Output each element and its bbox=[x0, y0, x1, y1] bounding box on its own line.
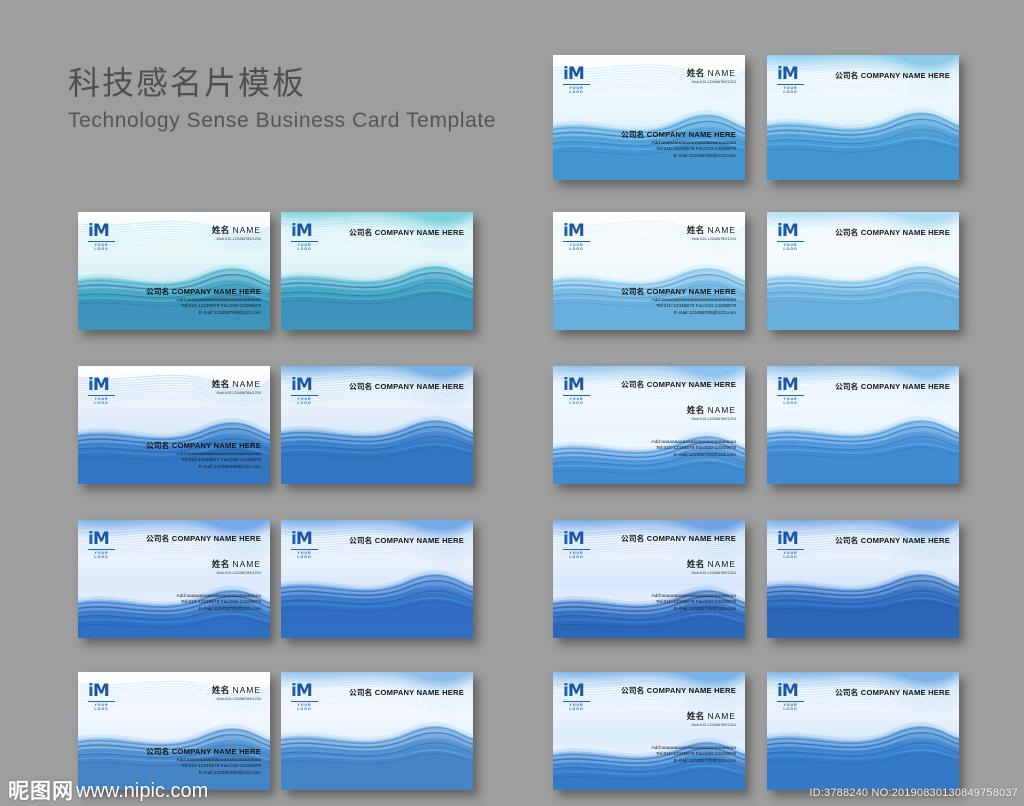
watermark-chinese-label: 昵图网 bbox=[8, 780, 74, 802]
logo-subtitle: YOUR LOGO bbox=[777, 84, 804, 94]
card-email-line: E-mail:123456789@123.com bbox=[651, 759, 736, 765]
business-card-r3c2[interactable]: iM YOUR LOGO 公司名 COMPANY NAME HERE bbox=[281, 366, 473, 484]
logo-mark: iM bbox=[563, 377, 590, 394]
logo-mark: iM bbox=[563, 531, 590, 548]
card-company-line: 公司名 COMPANY NAME HERE bbox=[349, 535, 464, 546]
card-company-block: 公司名 COMPANY NAME HERE bbox=[621, 533, 736, 544]
card-name-line: 姓名 NAME bbox=[687, 67, 736, 79]
card-email-line: E-mail:123456789@123.com bbox=[651, 607, 736, 613]
card-company-line: 公司名 COMPANY NAME HERE bbox=[835, 687, 950, 698]
card-name-english: NAME bbox=[707, 68, 736, 78]
company-logo: iM YOUR LOGO bbox=[88, 223, 115, 251]
card-artwork: iM YOUR LOGO 公司名 COMPANY NAME HERE 姓名 NA… bbox=[553, 672, 745, 790]
company-logo: iM YOUR LOGO bbox=[563, 683, 590, 711]
logo-mark: iM bbox=[777, 683, 804, 700]
logo-mark: iM bbox=[291, 377, 318, 394]
business-card-r1c3[interactable]: iM YOUR LOGO 姓名 NAME Mob:010-123456789/1… bbox=[553, 55, 745, 180]
card-company-line: 公司名 COMPANY NAME HERE bbox=[146, 746, 261, 757]
company-logo: iM YOUR LOGO bbox=[777, 683, 804, 711]
logo-mark: iM bbox=[88, 531, 115, 548]
card-name-line: 姓名 NAME bbox=[212, 558, 261, 570]
logo-subtitle: YOUR LOGO bbox=[777, 549, 804, 559]
page-title-chinese: 科技感名片模板 bbox=[68, 62, 496, 104]
logo-letter-m: M bbox=[296, 221, 312, 241]
card-artwork: iM YOUR LOGO 公司名 COMPANY NAME HERE 姓名 NA… bbox=[553, 366, 745, 484]
card-company-line: 公司名 COMPANY NAME HERE bbox=[621, 129, 736, 140]
card-company-block: 公司名 COMPANY NAME HERE bbox=[621, 286, 736, 297]
card-company-block: 公司名 COMPANY NAME HERE bbox=[621, 129, 736, 140]
business-card-r2c4[interactable]: iM YOUR LOGO 公司名 COMPANY NAME HERE bbox=[767, 212, 959, 330]
card-company-chinese: 公司名 bbox=[835, 228, 858, 237]
card-company-english: COMPANY NAME HERE bbox=[647, 534, 736, 543]
card-company-english: COMPANY NAME HERE bbox=[647, 380, 736, 389]
card-artwork: iM YOUR LOGO 公司名 COMPANY NAME HERE bbox=[767, 55, 959, 180]
card-mobile-line: Mob:010-123456789/1234 bbox=[687, 723, 736, 727]
logo-subtitle: YOUR LOGO bbox=[291, 241, 318, 251]
logo-letter-m: M bbox=[782, 375, 798, 395]
card-email-line: E-mail:123456789@123.com bbox=[176, 771, 261, 777]
business-card-r3c4[interactable]: iM YOUR LOGO 公司名 COMPANY NAME HERE bbox=[767, 366, 959, 484]
logo-subtitle: YOUR LOGO bbox=[777, 701, 804, 711]
business-card-r1c4[interactable]: iM YOUR LOGO 公司名 COMPANY NAME HERE bbox=[767, 55, 959, 180]
card-company-english: COMPANY NAME HERE bbox=[861, 382, 950, 391]
card-company-block: 公司名 COMPANY NAME HERE bbox=[146, 440, 261, 451]
logo-mark: iM bbox=[563, 223, 590, 240]
card-contact-block: Add:aaaaaaaaaaaaaaaaaaaaaaaaaaaa Tel:010… bbox=[651, 440, 736, 459]
card-company-line: 公司名 COMPANY NAME HERE bbox=[621, 286, 736, 297]
card-mobile-line: Mob:010-123456789/1234 bbox=[212, 571, 261, 575]
card-contact-block: Add:aaaaaaaaaaaaaaaaaaaaaaaaaaaa Tel:010… bbox=[176, 594, 261, 613]
logo-subtitle: YOUR LOGO bbox=[291, 701, 318, 711]
card-company-chinese: 公司名 bbox=[621, 130, 644, 139]
logo-subtitle: YOUR LOGO bbox=[88, 241, 115, 251]
card-company-english: COMPANY NAME HERE bbox=[861, 71, 950, 80]
logo-mark: iM bbox=[88, 377, 115, 394]
asset-id-label: ID:3788240 NO:20190830130849758037 bbox=[809, 787, 1018, 799]
card-company-english: COMPANY NAME HERE bbox=[861, 688, 950, 697]
card-email-line: E-mail:123456789@123.com bbox=[176, 607, 261, 613]
card-name-block: 姓名 NAME Mob:010-123456789/1234 bbox=[212, 224, 261, 241]
card-contact-block: Add:aaaaaaaaaaaaaaaaaaaaaaaaaaaa Tel:010… bbox=[651, 141, 736, 160]
logo-subtitle: YOUR LOGO bbox=[291, 549, 318, 559]
logo-subtitle: YOUR LOGO bbox=[563, 549, 590, 559]
card-contact-block: Add:aaaaaaaaaaaaaaaaaaaaaaaaaaaa Tel:010… bbox=[651, 298, 736, 317]
company-logo: iM YOUR LOGO bbox=[291, 223, 318, 251]
logo-mark: iM bbox=[563, 66, 590, 83]
business-card-r4c4[interactable]: iM YOUR LOGO 公司名 COMPANY NAME HERE bbox=[767, 520, 959, 638]
card-name-chinese: 姓名 bbox=[687, 406, 705, 416]
logo-letter-m: M bbox=[568, 64, 584, 84]
company-logo: iM YOUR LOGO bbox=[88, 377, 115, 405]
business-card-r4c2[interactable]: iM YOUR LOGO 公司名 COMPANY NAME HERE bbox=[281, 520, 473, 638]
card-telfax-line: Tel:010-12345678 Fax:010-12345678 bbox=[176, 458, 261, 464]
card-mobile-line: Mob:010-123456789/1234 bbox=[687, 417, 736, 421]
logo-mark: iM bbox=[88, 223, 115, 240]
card-name-chinese: 姓名 bbox=[212, 560, 230, 570]
company-logo: iM YOUR LOGO bbox=[563, 377, 590, 405]
card-company-block: 公司名 COMPANY NAME HERE bbox=[835, 687, 950, 698]
logo-letter-m: M bbox=[296, 375, 312, 395]
card-name-block: 姓名 NAME Mob:010-123456789/1234 bbox=[687, 558, 736, 575]
logo-subtitle: YOUR LOGO bbox=[563, 84, 590, 94]
logo-letter-m: M bbox=[568, 375, 584, 395]
card-company-line: 公司名 COMPANY NAME HERE bbox=[146, 440, 261, 451]
card-name-english: NAME bbox=[707, 225, 736, 235]
card-company-block: 公司名 COMPANY NAME HERE bbox=[146, 533, 261, 544]
card-company-chinese: 公司名 bbox=[621, 534, 644, 543]
card-name-chinese: 姓名 bbox=[687, 226, 705, 236]
card-company-line: 公司名 COMPANY NAME HERE bbox=[835, 227, 950, 238]
card-name-block: 姓名 NAME Mob:010-123456789/1234 bbox=[212, 378, 261, 395]
card-company-chinese: 公司名 bbox=[349, 382, 372, 391]
business-card-r4c3[interactable]: iM YOUR LOGO 公司名 COMPANY NAME HERE 姓名 NA… bbox=[553, 520, 745, 638]
card-company-block: 公司名 COMPANY NAME HERE bbox=[349, 687, 464, 698]
business-card-r2c2[interactable]: iM YOUR LOGO 公司名 COMPANY NAME HERE bbox=[281, 212, 473, 330]
card-company-chinese: 公司名 bbox=[349, 688, 372, 697]
card-name-block: 姓名 NAME Mob:010-123456789/1234 bbox=[212, 558, 261, 575]
logo-letter-m: M bbox=[568, 529, 584, 549]
card-name-block: 姓名 NAME Mob:010-123456789/1234 bbox=[212, 684, 261, 701]
card-telfax-line: Tel:010-12345678 Fax:010-12345678 bbox=[176, 600, 261, 606]
company-logo: iM YOUR LOGO bbox=[563, 223, 590, 251]
company-logo: iM YOUR LOGO bbox=[291, 377, 318, 405]
card-artwork: iM YOUR LOGO 公司名 COMPANY NAME HERE 姓名 NA… bbox=[553, 520, 745, 638]
company-logo: iM YOUR LOGO bbox=[777, 377, 804, 405]
card-company-block: 公司名 COMPANY NAME HERE bbox=[835, 70, 950, 81]
card-company-chinese: 公司名 bbox=[621, 686, 644, 695]
card-email-line: E-mail:123456789@123.com bbox=[651, 311, 736, 317]
card-company-chinese: 公司名 bbox=[146, 534, 169, 543]
card-company-english: COMPANY NAME HERE bbox=[861, 228, 950, 237]
card-company-chinese: 公司名 bbox=[835, 536, 858, 545]
card-company-line: 公司名 COMPANY NAME HERE bbox=[349, 227, 464, 238]
business-card-r5c1[interactable]: iM YOUR LOGO 姓名 NAME Mob:010-123456789/1… bbox=[78, 672, 270, 790]
card-artwork: iM YOUR LOGO 公司名 COMPANY NAME HERE bbox=[767, 212, 959, 330]
logo-letter-m: M bbox=[782, 529, 798, 549]
business-card-r3c3[interactable]: iM YOUR LOGO 公司名 COMPANY NAME HERE 姓名 NA… bbox=[553, 366, 745, 484]
card-company-english: COMPANY NAME HERE bbox=[375, 688, 464, 697]
card-email-line: E-mail:123456789@123.com bbox=[176, 465, 261, 471]
logo-subtitle: YOUR LOGO bbox=[563, 241, 590, 251]
card-company-english: COMPANY NAME HERE bbox=[172, 534, 261, 543]
card-company-english: COMPANY NAME HERE bbox=[375, 382, 464, 391]
card-company-english: COMPANY NAME HERE bbox=[647, 130, 736, 139]
business-card-r5c4[interactable]: iM YOUR LOGO 公司名 COMPANY NAME HERE bbox=[767, 672, 959, 790]
card-artwork: iM YOUR LOGO 公司名 COMPANY NAME HERE bbox=[767, 672, 959, 790]
card-name-chinese: 姓名 bbox=[212, 380, 230, 390]
logo-mark: iM bbox=[777, 531, 804, 548]
card-company-english: COMPANY NAME HERE bbox=[375, 536, 464, 545]
business-card-r3c1[interactable]: iM YOUR LOGO 姓名 NAME Mob:010-123456789/1… bbox=[78, 366, 270, 484]
card-mobile-line: Mob:010-123456789/1234 bbox=[212, 697, 261, 701]
card-artwork: iM YOUR LOGO 姓名 NAME Mob:010-123456789/1… bbox=[78, 672, 270, 790]
card-artwork: iM YOUR LOGO 姓名 NAME Mob:010-123456789/1… bbox=[78, 212, 270, 330]
logo-mark: iM bbox=[88, 683, 115, 700]
card-name-line: 姓名 NAME bbox=[212, 378, 261, 390]
card-artwork: iM YOUR LOGO 公司名 COMPANY NAME HERE bbox=[767, 366, 959, 484]
card-company-line: 公司名 COMPANY NAME HERE bbox=[835, 535, 950, 546]
business-card-r5c2[interactable]: iM YOUR LOGO 公司名 COMPANY NAME HERE bbox=[281, 672, 473, 790]
card-email-line: E-mail:123456789@123.com bbox=[651, 453, 736, 459]
card-name-english: NAME bbox=[707, 559, 736, 569]
card-telfax-line: Tel:010-12345678 Fax:010-12345678 bbox=[651, 600, 736, 606]
card-company-english: COMPANY NAME HERE bbox=[375, 228, 464, 237]
card-company-block: 公司名 COMPANY NAME HERE bbox=[146, 746, 261, 757]
logo-subtitle: YOUR LOGO bbox=[563, 701, 590, 711]
card-company-chinese: 公司名 bbox=[146, 287, 169, 296]
card-company-chinese: 公司名 bbox=[621, 380, 644, 389]
card-mobile-line: Mob:010-123456789/1234 bbox=[687, 571, 736, 575]
logo-letter-m: M bbox=[93, 221, 109, 241]
card-name-english: NAME bbox=[707, 711, 736, 721]
card-company-chinese: 公司名 bbox=[349, 228, 372, 237]
logo-subtitle: YOUR LOGO bbox=[563, 395, 590, 405]
card-company-block: 公司名 COMPANY NAME HERE bbox=[349, 535, 464, 546]
card-contact-block: Add:aaaaaaaaaaaaaaaaaaaaaaaaaaaa Tel:010… bbox=[176, 298, 261, 317]
business-card-r2c1[interactable]: iM YOUR LOGO 姓名 NAME Mob:010-123456789/1… bbox=[78, 212, 270, 330]
card-artwork: iM YOUR LOGO 公司名 COMPANY NAME HERE bbox=[767, 520, 959, 638]
site-watermark: 昵图网 www.nipic.com bbox=[8, 780, 208, 802]
card-company-line: 公司名 COMPANY NAME HERE bbox=[835, 70, 950, 81]
card-company-chinese: 公司名 bbox=[146, 747, 169, 756]
card-company-chinese: 公司名 bbox=[835, 688, 858, 697]
card-company-line: 公司名 COMPANY NAME HERE bbox=[146, 286, 261, 297]
logo-mark: iM bbox=[777, 377, 804, 394]
card-artwork: iM YOUR LOGO 公司名 COMPANY NAME HERE 姓名 NA… bbox=[78, 520, 270, 638]
card-mobile-line: Mob:010-123456789/1234 bbox=[212, 237, 261, 241]
card-company-block: 公司名 COMPANY NAME HERE bbox=[835, 535, 950, 546]
card-telfax-line: Tel:010-12345678 Fax:010-12345678 bbox=[651, 304, 736, 310]
business-card-r4c1[interactable]: iM YOUR LOGO 公司名 COMPANY NAME HERE 姓名 NA… bbox=[78, 520, 270, 638]
card-name-block: 姓名 NAME Mob:010-123456789/1234 bbox=[687, 224, 736, 241]
logo-subtitle: YOUR LOGO bbox=[291, 395, 318, 405]
logo-mark: iM bbox=[777, 66, 804, 83]
page-title-block: 科技感名片模板 Technology Sense Business Card T… bbox=[68, 62, 496, 136]
card-company-english: COMPANY NAME HERE bbox=[861, 536, 950, 545]
card-contact-block: Add:aaaaaaaaaaaaaaaaaaaaaaaaaaaa Tel:010… bbox=[651, 746, 736, 765]
company-logo: iM YOUR LOGO bbox=[88, 683, 115, 711]
card-company-block: 公司名 COMPANY NAME HERE bbox=[835, 381, 950, 392]
logo-subtitle: YOUR LOGO bbox=[777, 395, 804, 405]
card-company-line: 公司名 COMPANY NAME HERE bbox=[621, 533, 736, 544]
card-mobile-line: Mob:010-123456789/1234 bbox=[687, 237, 736, 241]
company-logo: iM YOUR LOGO bbox=[777, 66, 804, 94]
card-company-block: 公司名 COMPANY NAME HERE bbox=[349, 227, 464, 238]
card-name-line: 姓名 NAME bbox=[687, 404, 736, 416]
card-name-chinese: 姓名 bbox=[687, 69, 705, 79]
card-artwork: iM YOUR LOGO 公司名 COMPANY NAME HERE bbox=[281, 672, 473, 790]
card-contact-block: Add:aaaaaaaaaaaaaaaaaaaaaaaaaaaa Tel:010… bbox=[651, 594, 736, 613]
card-artwork: iM YOUR LOGO 姓名 NAME Mob:010-123456789/1… bbox=[553, 55, 745, 180]
company-logo: iM YOUR LOGO bbox=[563, 531, 590, 559]
card-name-chinese: 姓名 bbox=[212, 226, 230, 236]
logo-mark: iM bbox=[291, 223, 318, 240]
card-name-english: NAME bbox=[232, 225, 261, 235]
card-name-line: 姓名 NAME bbox=[212, 224, 261, 236]
business-card-r5c3[interactable]: iM YOUR LOGO 公司名 COMPANY NAME HERE 姓名 NA… bbox=[553, 672, 745, 790]
company-logo: iM YOUR LOGO bbox=[563, 66, 590, 94]
company-logo: iM YOUR LOGO bbox=[291, 683, 318, 711]
card-company-line: 公司名 COMPANY NAME HERE bbox=[835, 381, 950, 392]
card-company-line: 公司名 COMPANY NAME HERE bbox=[146, 533, 261, 544]
card-company-chinese: 公司名 bbox=[835, 71, 858, 80]
card-name-line: 姓名 NAME bbox=[212, 684, 261, 696]
logo-mark: iM bbox=[777, 223, 804, 240]
card-email-line: E-mail:123456789@123.com bbox=[651, 154, 736, 160]
card-mobile-line: Mob:010-123456789/1234 bbox=[212, 391, 261, 395]
card-name-block: 姓名 NAME Mob:010-123456789/1234 bbox=[687, 67, 736, 84]
company-logo: iM YOUR LOGO bbox=[777, 531, 804, 559]
card-company-line: 公司名 COMPANY NAME HERE bbox=[349, 687, 464, 698]
logo-letter-m: M bbox=[782, 64, 798, 84]
business-card-r2c3[interactable]: iM YOUR LOGO 姓名 NAME Mob:010-123456789/1… bbox=[553, 212, 745, 330]
logo-letter-m: M bbox=[93, 529, 109, 549]
page-title-english: Technology Sense Business Card Template bbox=[68, 106, 496, 136]
card-company-english: COMPANY NAME HERE bbox=[172, 287, 261, 296]
card-name-english: NAME bbox=[232, 379, 261, 389]
card-artwork: iM YOUR LOGO 公司名 COMPANY NAME HERE bbox=[281, 366, 473, 484]
card-contact-block: Add:aaaaaaaaaaaaaaaaaaaaaaaaaaaa Tel:010… bbox=[176, 758, 261, 777]
card-name-line: 姓名 NAME bbox=[687, 558, 736, 570]
logo-letter-m: M bbox=[568, 681, 584, 701]
logo-letter-m: M bbox=[296, 529, 312, 549]
card-name-block: 姓名 NAME Mob:010-123456789/1234 bbox=[687, 710, 736, 727]
card-artwork: iM YOUR LOGO 公司名 COMPANY NAME HERE bbox=[281, 212, 473, 330]
company-logo: iM YOUR LOGO bbox=[291, 531, 318, 559]
card-company-english: COMPANY NAME HERE bbox=[172, 747, 261, 756]
watermark-url-label: www.nipic.com bbox=[76, 780, 208, 802]
card-company-block: 公司名 COMPANY NAME HERE bbox=[349, 381, 464, 392]
card-artwork: iM YOUR LOGO 公司名 COMPANY NAME HERE bbox=[281, 520, 473, 638]
card-contact-block: Add:aaaaaaaaaaaaaaaaaaaaaaaaaaaa Tel:010… bbox=[176, 452, 261, 471]
card-company-english: COMPANY NAME HERE bbox=[172, 441, 261, 450]
card-artwork: iM YOUR LOGO 姓名 NAME Mob:010-123456789/1… bbox=[553, 212, 745, 330]
card-telfax-line: Tel:010-12345678 Fax:010-12345678 bbox=[651, 752, 736, 758]
card-name-line: 姓名 NAME bbox=[687, 710, 736, 722]
card-company-block: 公司名 COMPANY NAME HERE bbox=[835, 227, 950, 238]
logo-letter-m: M bbox=[93, 681, 109, 701]
logo-subtitle: YOUR LOGO bbox=[88, 549, 115, 559]
card-company-english: COMPANY NAME HERE bbox=[647, 287, 736, 296]
card-company-line: 公司名 COMPANY NAME HERE bbox=[621, 379, 736, 390]
card-name-english: NAME bbox=[707, 405, 736, 415]
card-company-chinese: 公司名 bbox=[349, 536, 372, 545]
logo-letter-m: M bbox=[296, 681, 312, 701]
card-company-english: COMPANY NAME HERE bbox=[647, 686, 736, 695]
card-company-block: 公司名 COMPANY NAME HERE bbox=[146, 286, 261, 297]
card-company-chinese: 公司名 bbox=[835, 382, 858, 391]
card-name-block: 姓名 NAME Mob:010-123456789/1234 bbox=[687, 404, 736, 421]
card-name-line: 姓名 NAME bbox=[687, 224, 736, 236]
logo-letter-m: M bbox=[782, 221, 798, 241]
card-name-chinese: 姓名 bbox=[212, 686, 230, 696]
logo-mark: iM bbox=[291, 683, 318, 700]
logo-letter-m: M bbox=[568, 221, 584, 241]
card-telfax-line: Tel:010-12345678 Fax:010-12345678 bbox=[176, 304, 261, 310]
company-logo: iM YOUR LOGO bbox=[777, 223, 804, 251]
logo-subtitle: YOUR LOGO bbox=[88, 701, 115, 711]
card-telfax-line: Tel:010-12345678 Fax:010-12345678 bbox=[176, 764, 261, 770]
logo-subtitle: YOUR LOGO bbox=[777, 241, 804, 251]
card-name-english: NAME bbox=[232, 559, 261, 569]
card-artwork: iM YOUR LOGO 姓名 NAME Mob:010-123456789/1… bbox=[78, 366, 270, 484]
card-company-chinese: 公司名 bbox=[146, 441, 169, 450]
card-mobile-line: Mob:010-123456789/1234 bbox=[687, 80, 736, 84]
logo-letter-m: M bbox=[93, 375, 109, 395]
card-name-english: NAME bbox=[232, 685, 261, 695]
logo-letter-m: M bbox=[782, 681, 798, 701]
card-company-block: 公司名 COMPANY NAME HERE bbox=[621, 685, 736, 696]
logo-mark: iM bbox=[563, 683, 590, 700]
logo-subtitle: YOUR LOGO bbox=[88, 395, 115, 405]
card-company-line: 公司名 COMPANY NAME HERE bbox=[349, 381, 464, 392]
logo-mark: iM bbox=[291, 531, 318, 548]
card-email-line: E-mail:123456789@123.com bbox=[176, 311, 261, 317]
card-company-chinese: 公司名 bbox=[621, 287, 644, 296]
company-logo: iM YOUR LOGO bbox=[88, 531, 115, 559]
card-company-line: 公司名 COMPANY NAME HERE bbox=[621, 685, 736, 696]
card-telfax-line: Tel:010-12345678 Fax:010-12345678 bbox=[651, 446, 736, 452]
card-telfax-line: Tel:010-12345678 Fax:010-12345678 bbox=[651, 147, 736, 153]
card-company-block: 公司名 COMPANY NAME HERE bbox=[621, 379, 736, 390]
card-name-chinese: 姓名 bbox=[687, 560, 705, 570]
card-name-chinese: 姓名 bbox=[687, 712, 705, 722]
